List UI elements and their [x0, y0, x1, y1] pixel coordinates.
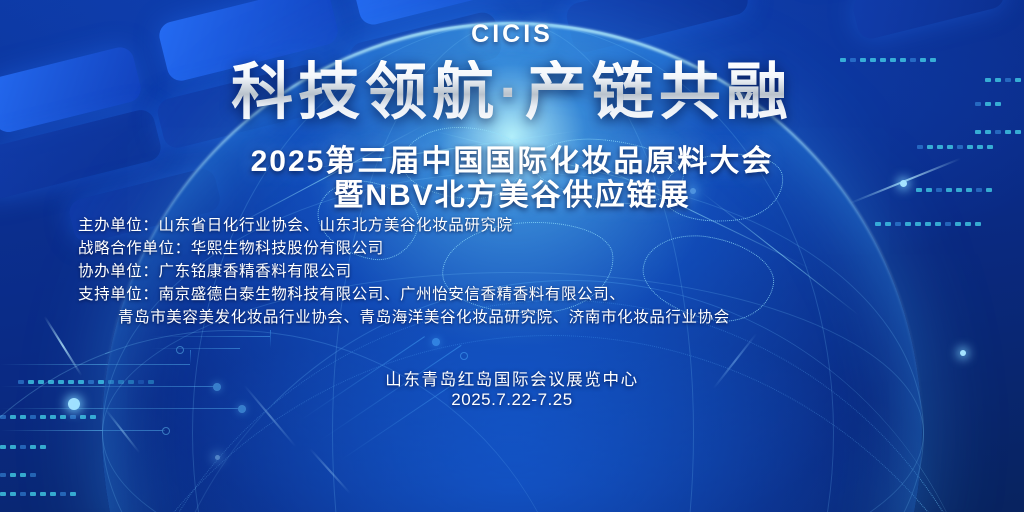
- subtitle-line-2: 暨NBV北方美谷供应链展: [0, 170, 1024, 214]
- organizer-block: 主办单位：山东省日化行业协会、山东北方美谷化妆品研究院 战略合作单位：华熙生物科…: [78, 214, 958, 329]
- organizer-line: 支持单位：南京盛德白泰生物科技有限公司、广州怡安信香精香料有限公司、: [78, 283, 958, 306]
- conference-poster: CICIS 科技领航·产链共融 2025第三届中国国际化妆品原料大会 暨NBV北…: [0, 0, 1024, 512]
- poster-content: CICIS 科技领航·产链共融 2025第三届中国国际化妆品原料大会 暨NBV北…: [0, 0, 1024, 512]
- brand-title: CICIS: [0, 20, 1024, 49]
- page-title: 科技领航·产链共融: [0, 60, 1024, 126]
- event-dates: 2025.7.22-7.25: [0, 390, 1024, 410]
- organizer-line: 主办单位：山东省日化行业协会、山东北方美谷化妆品研究院: [78, 214, 958, 237]
- organizer-line: 协办单位：广东铭康香精香料有限公司: [78, 260, 958, 283]
- organizer-line: 战略合作单位：华熙生物科技股份有限公司: [78, 237, 958, 260]
- organizer-line: 青岛市美容美发化妆品行业协会、青岛海洋美谷化妆品研究院、济南市化妆品行业协会: [78, 306, 958, 329]
- venue-text: 山东青岛红岛国际会议展览中心: [0, 366, 1024, 390]
